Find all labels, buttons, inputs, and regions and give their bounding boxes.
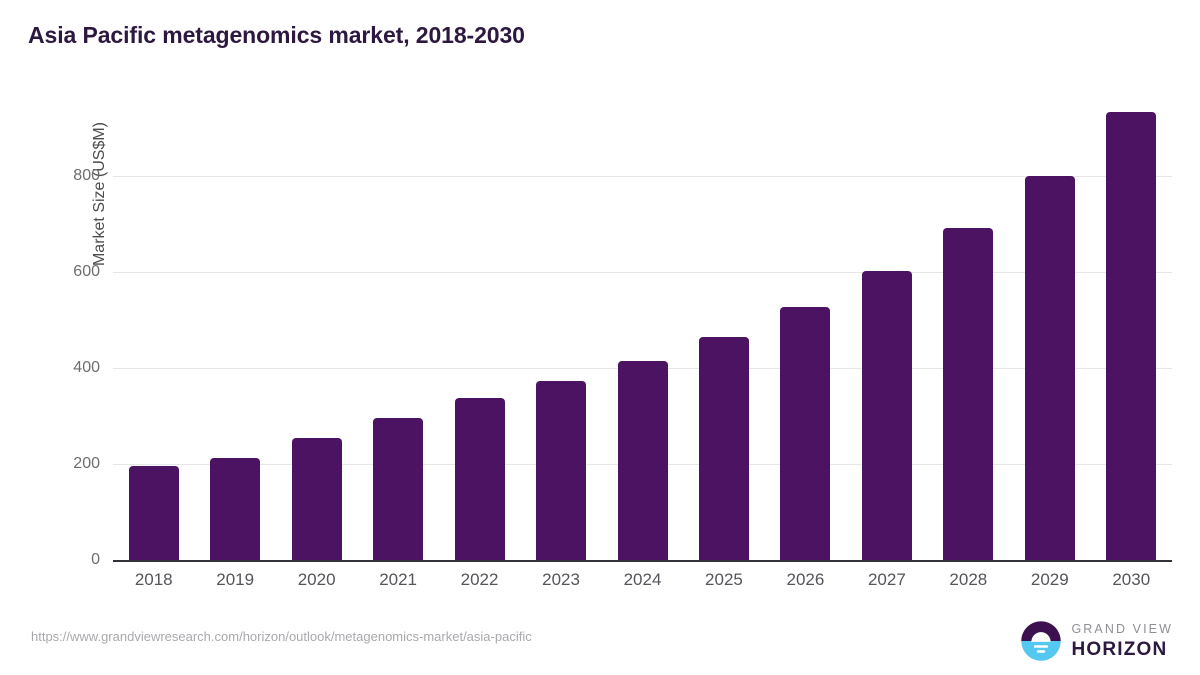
y-tick-label: 0 bbox=[91, 551, 100, 569]
y-tick-label: 200 bbox=[73, 455, 100, 473]
x-tick-label-2026: 2026 bbox=[760, 570, 850, 590]
bar-2027[interactable] bbox=[862, 271, 912, 560]
y-axis-tick-labels: 0200400600800 bbox=[0, 0, 100, 675]
y-tick-label: 800 bbox=[73, 167, 100, 185]
x-axis-tick-labels: 2018201920202021202220232024202520262027… bbox=[113, 570, 1172, 600]
x-axis-line bbox=[113, 560, 1172, 562]
bar-2029[interactable] bbox=[1025, 176, 1075, 560]
bar-2021[interactable] bbox=[373, 418, 423, 560]
bar-2026[interactable] bbox=[780, 307, 830, 560]
x-tick-label-2022: 2022 bbox=[435, 570, 525, 590]
bars-layer bbox=[113, 90, 1172, 560]
grand-view-horizon-logo-mark bbox=[1020, 620, 1062, 662]
bar-2020[interactable] bbox=[292, 438, 342, 560]
logo-wordmark: GRAND VIEW HORIZON bbox=[1071, 623, 1173, 659]
x-tick-label-2023: 2023 bbox=[516, 570, 606, 590]
source-url[interactable]: https://www.grandviewresearch.com/horizo… bbox=[31, 629, 532, 644]
y-tick-label: 600 bbox=[73, 263, 100, 281]
bar-2024[interactable] bbox=[618, 361, 668, 561]
bar-2030[interactable] bbox=[1106, 112, 1156, 560]
x-tick-label-2024: 2024 bbox=[598, 570, 688, 590]
brand-logo[interactable]: GRAND VIEW HORIZON bbox=[1020, 620, 1173, 662]
x-tick-label-2030: 2030 bbox=[1086, 570, 1176, 590]
x-tick-label-2018: 2018 bbox=[109, 570, 199, 590]
bar-2025[interactable] bbox=[699, 337, 749, 560]
bar-2028[interactable] bbox=[943, 228, 993, 560]
x-tick-label-2027: 2027 bbox=[842, 570, 932, 590]
x-tick-label-2028: 2028 bbox=[923, 570, 1013, 590]
x-tick-label-2019: 2019 bbox=[190, 570, 280, 590]
bar-2023[interactable] bbox=[536, 381, 586, 560]
x-tick-label-2025: 2025 bbox=[679, 570, 769, 590]
logo-line-grand-view: GRAND VIEW bbox=[1071, 623, 1173, 636]
x-tick-label-2020: 2020 bbox=[272, 570, 362, 590]
x-tick-label-2029: 2029 bbox=[1005, 570, 1095, 590]
logo-line-horizon: HORIZON bbox=[1071, 640, 1173, 659]
bar-2022[interactable] bbox=[455, 398, 505, 560]
bar-2018[interactable] bbox=[129, 466, 179, 560]
bar-2019[interactable] bbox=[210, 458, 260, 560]
y-tick-label: 400 bbox=[73, 359, 100, 377]
x-tick-label-2021: 2021 bbox=[353, 570, 443, 590]
chart-canvas: Asia Pacific metagenomics market, 2018-2… bbox=[0, 0, 1200, 675]
